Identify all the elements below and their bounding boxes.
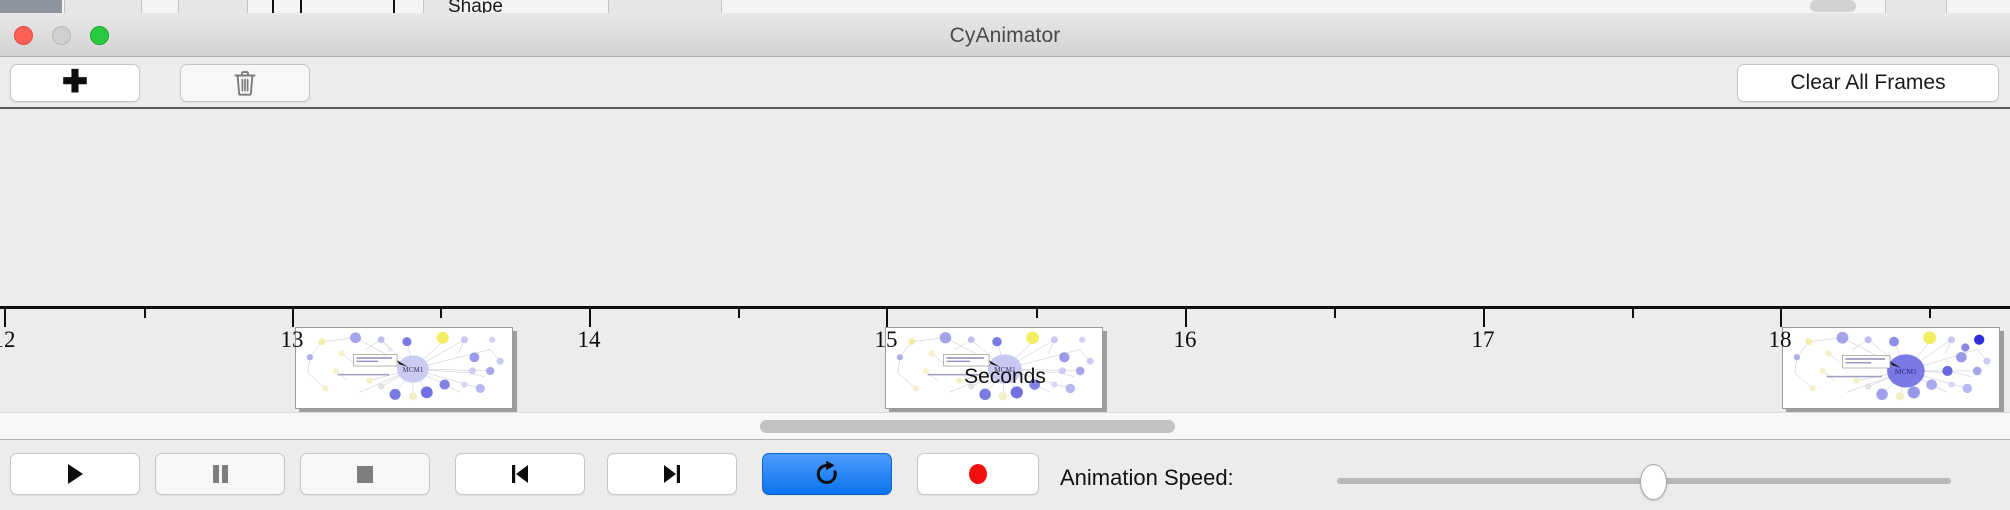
axis-major-tick <box>4 309 6 327</box>
clear-all-frames-button[interactable]: Clear All Frames <box>1737 64 1999 102</box>
record-button[interactable] <box>917 453 1039 495</box>
animation-speed-label: Animation Speed: <box>1060 465 1234 491</box>
delete-frame-button[interactable] <box>180 64 310 102</box>
background-scroll-thumb <box>1810 0 1856 12</box>
background-tick <box>393 0 395 13</box>
background-window-label: Shape <box>448 0 503 14</box>
title-bar: CyAnimator <box>0 13 2010 57</box>
loop-button[interactable] <box>762 453 892 495</box>
animation-speed-slider-thumb[interactable] <box>1640 464 1667 500</box>
skip-end-icon <box>659 461 685 487</box>
play-icon <box>62 461 88 487</box>
axis-tick-label: 16 <box>1174 327 1197 353</box>
skip-end-button[interactable] <box>607 453 737 495</box>
skip-start-button[interactable] <box>455 453 585 495</box>
background-tick <box>272 0 274 13</box>
axis-minor-tick <box>738 309 740 318</box>
axis-minor-tick <box>144 309 146 318</box>
axis-major-tick <box>292 309 294 327</box>
background-window-strip: Shape <box>0 0 2010 14</box>
timeline-panel[interactable]: MCM1 <box>0 109 2010 412</box>
axis-tick-label: 18 <box>1769 327 1792 353</box>
axis-minor-tick <box>1036 309 1038 318</box>
axis-title: Seconds <box>0 365 2010 389</box>
scrollbar-thumb[interactable] <box>760 420 1175 433</box>
cyanimator-window: Shape CyAnimator ✚ Clear All Frames <box>0 0 2010 510</box>
axis-minor-tick <box>440 309 442 318</box>
background-tick <box>300 0 302 13</box>
play-button[interactable] <box>10 453 140 495</box>
background-window-titlebar <box>0 0 62 13</box>
plus-icon: ✚ <box>62 66 88 97</box>
axis-tick-label: 13 <box>281 327 304 353</box>
background-chunk <box>178 0 248 13</box>
axis-major-tick <box>589 309 591 327</box>
axis-tick-label: 15 <box>875 327 898 353</box>
axis-minor-tick <box>1632 309 1634 318</box>
background-chunk <box>1885 0 1947 13</box>
transport-bar: Animation Speed: <box>0 441 2010 510</box>
axis-major-tick <box>1185 309 1187 327</box>
window-title: CyAnimator <box>0 24 2010 48</box>
toolbar: ✚ Clear All Frames <box>0 57 2010 109</box>
axis-minor-tick <box>1334 309 1336 318</box>
axis-major-tick <box>1483 309 1485 327</box>
trash-icon <box>233 69 257 97</box>
pause-icon <box>207 461 233 487</box>
pause-button[interactable] <box>155 453 285 495</box>
background-chunk <box>608 0 722 13</box>
loop-icon <box>813 460 841 488</box>
axis-major-tick <box>886 309 888 327</box>
background-chunk <box>64 0 142 13</box>
axis-minor-tick <box>1929 309 1931 318</box>
stop-button[interactable] <box>300 453 430 495</box>
timeline-scrollbar[interactable] <box>0 412 2010 440</box>
record-icon <box>965 461 991 487</box>
add-frame-button[interactable]: ✚ <box>10 64 140 102</box>
skip-start-icon <box>507 461 533 487</box>
stop-icon <box>352 461 378 487</box>
axis-tick-label: 12 <box>0 327 16 353</box>
axis-tick-label: 17 <box>1472 327 1495 353</box>
timeline-axis <box>0 306 2010 309</box>
axis-major-tick <box>1780 309 1782 327</box>
axis-tick-label: 14 <box>578 327 601 353</box>
clear-all-frames-label: Clear All Frames <box>1790 71 1945 95</box>
